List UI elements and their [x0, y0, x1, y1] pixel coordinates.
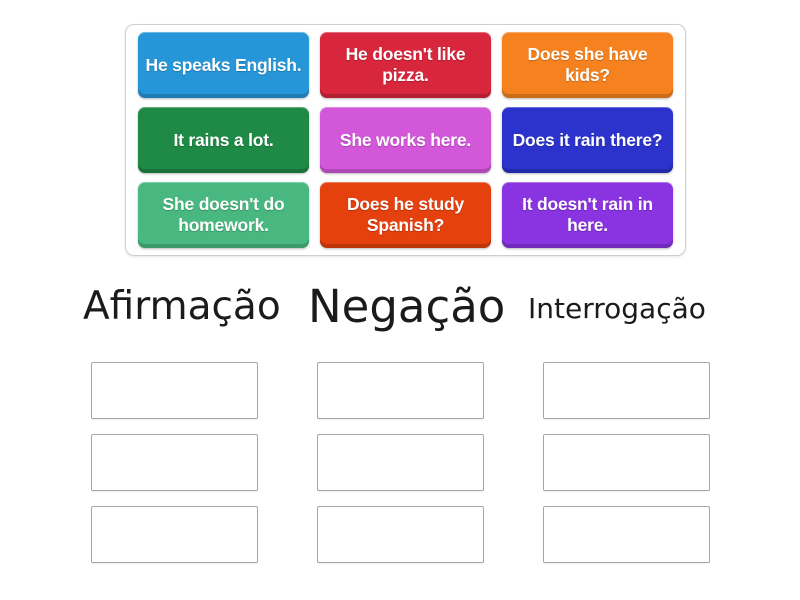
sentence-tile[interactable]: Does she have kids?	[502, 32, 673, 98]
tile-row: She doesn't do homework. Does he study S…	[132, 182, 679, 248]
dropzone-row	[91, 362, 711, 419]
sentence-tile-label: Does he study Spanish?	[325, 194, 486, 235]
category-headings: Afirmação Negação Interrogação	[0, 284, 800, 340]
tile-row: It rains a lot. She works here. Does it …	[132, 107, 679, 173]
sentence-tile-bank: He speaks English. He doesn't like pizza…	[125, 24, 686, 256]
sentence-tile[interactable]: He speaks English.	[138, 32, 309, 98]
dropzone-interrogacao-1[interactable]	[543, 362, 710, 419]
dropzone-afirmacao-1[interactable]	[91, 362, 258, 419]
sentence-tile-label: It doesn't rain in here.	[507, 194, 668, 235]
sentence-tile-label: He speaks English.	[143, 55, 304, 76]
sentence-tile[interactable]: She doesn't do homework.	[138, 182, 309, 248]
sentence-tile[interactable]: It doesn't rain in here.	[502, 182, 673, 248]
sentence-tile-label: She works here.	[325, 130, 486, 151]
sentence-tile[interactable]: She works here.	[320, 107, 491, 173]
dropzone-afirmacao-2[interactable]	[91, 434, 258, 491]
tile-row: He speaks English. He doesn't like pizza…	[132, 32, 679, 98]
category-heading-afirmacao: Afirmação	[83, 284, 281, 329]
group-sort-activity: He speaks English. He doesn't like pizza…	[0, 0, 800, 600]
dropzone-interrogacao-2[interactable]	[543, 434, 710, 491]
sentence-tile-label: It rains a lot.	[143, 130, 304, 151]
dropzone-negacao-2[interactable]	[317, 434, 484, 491]
dropzone-negacao-3[interactable]	[317, 506, 484, 563]
sentence-tile[interactable]: Does he study Spanish?	[320, 182, 491, 248]
sentence-tile[interactable]: It rains a lot.	[138, 107, 309, 173]
dropzone-interrogacao-3[interactable]	[543, 506, 710, 563]
sentence-tile-label: Does she have kids?	[507, 44, 668, 85]
sentence-tile-label: Does it rain there?	[507, 130, 668, 151]
category-heading-negacao: Negação	[308, 280, 505, 333]
dropzone-afirmacao-3[interactable]	[91, 506, 258, 563]
dropzone-row	[91, 506, 711, 563]
dropzone-negacao-1[interactable]	[317, 362, 484, 419]
sentence-tile-label: She doesn't do homework.	[143, 194, 304, 235]
sentence-tile-label: He doesn't like pizza.	[325, 44, 486, 85]
dropzone-grid	[91, 362, 711, 567]
sentence-tile[interactable]: Does it rain there?	[502, 107, 673, 173]
category-heading-interrogacao: Interrogação	[528, 292, 706, 325]
sentence-tile[interactable]: He doesn't like pizza.	[320, 32, 491, 98]
dropzone-row	[91, 434, 711, 491]
